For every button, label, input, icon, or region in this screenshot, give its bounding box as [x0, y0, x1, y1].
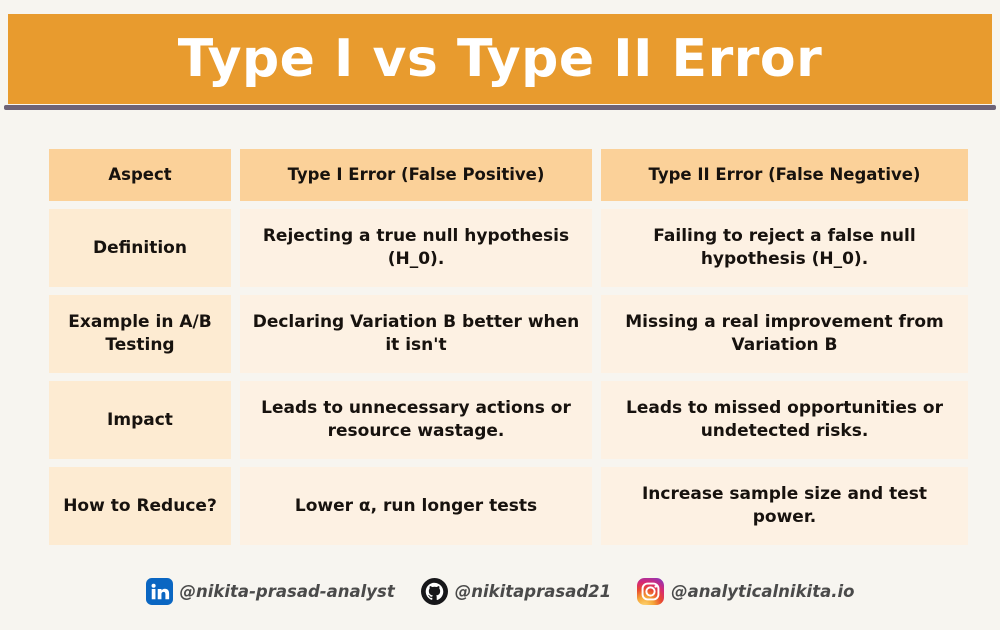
instagram-handle: @analyticalnikita.io: [671, 582, 854, 601]
page-title: Type I vs Type II Error: [178, 33, 822, 85]
cell-aspect: Impact: [49, 381, 231, 459]
cell-type-1: Leads to unnecessary actions or resource…: [240, 381, 592, 459]
cell-type-2: Increase sample size and test power.: [601, 467, 968, 545]
cell-aspect: Example in A/B Testing: [49, 295, 231, 373]
social-link-instagram[interactable]: @analyticalnikita.io: [637, 578, 854, 605]
table-row: Example in A/B Testing Declaring Variati…: [49, 295, 968, 373]
table-header: Aspect Type I Error (False Positive) Typ…: [49, 149, 968, 201]
table-body: Definition Rejecting a true null hypothe…: [49, 209, 968, 545]
header-banner: Type I vs Type II Error: [8, 14, 992, 104]
table-row: Impact Leads to unnecessary actions or r…: [49, 381, 968, 459]
column-header-type-2: Type II Error (False Negative): [601, 149, 968, 201]
cell-type-1: Declaring Variation B better when it isn…: [240, 295, 592, 373]
column-header-type-1: Type I Error (False Positive): [240, 149, 592, 201]
table-header-row: Aspect Type I Error (False Positive) Typ…: [49, 149, 968, 201]
social-footer: @nikita-prasad-analyst @nikitaprasad21: [0, 568, 1000, 614]
cell-type-2: Failing to reject a false null hypothesi…: [601, 209, 968, 287]
github-handle: @nikitaprasad21: [455, 582, 611, 601]
column-header-aspect: Aspect: [49, 149, 231, 201]
instagram-icon: [637, 578, 664, 605]
comparison-table: Aspect Type I Error (False Positive) Typ…: [40, 141, 977, 553]
cell-type-1: Lower α, run longer tests: [240, 467, 592, 545]
social-link-github[interactable]: @nikitaprasad21: [421, 578, 611, 605]
table-row: Definition Rejecting a true null hypothe…: [49, 209, 968, 287]
cell-aspect: Definition: [49, 209, 231, 287]
cell-type-2: Leads to missed opportunities or undetec…: [601, 381, 968, 459]
cell-aspect: How to Reduce?: [49, 467, 231, 545]
github-icon: [421, 578, 448, 605]
header-divider: [4, 105, 996, 110]
cell-type-2: Missing a real improvement from Variatio…: [601, 295, 968, 373]
linkedin-icon: [146, 578, 173, 605]
linkedin-handle: @nikita-prasad-analyst: [180, 582, 395, 601]
table-row: How to Reduce? Lower α, run longer tests…: [49, 467, 968, 545]
social-link-linkedin[interactable]: @nikita-prasad-analyst: [146, 578, 395, 605]
cell-type-1: Rejecting a true null hypothesis (H_0).: [240, 209, 592, 287]
